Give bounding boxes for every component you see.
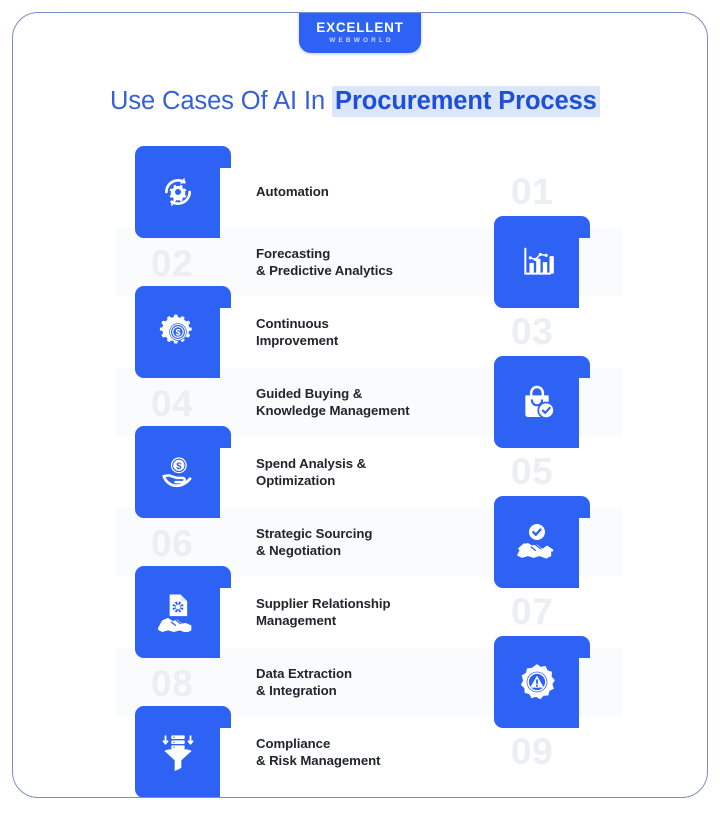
item-label: Compliance & Risk Management bbox=[256, 735, 380, 770]
document-handshake-icon bbox=[135, 566, 231, 658]
svg-text:$: $ bbox=[175, 328, 180, 338]
use-case-list: 01 Automation bbox=[116, 158, 622, 786]
page-title-wrap: Use Cases Of AI In Procurement Process bbox=[13, 87, 707, 116]
data-funnel-icon bbox=[135, 706, 231, 798]
brand-logo-secondary-text: WEBWORLD bbox=[329, 38, 394, 45]
item-label: Continuous Improvement bbox=[256, 315, 338, 350]
handshake-check-icon bbox=[494, 496, 590, 588]
shopping-bag-check-icon bbox=[494, 356, 590, 448]
brand-logo-badge[interactable]: EXCELLENT WEBWORLD bbox=[299, 12, 421, 53]
item-number: 09 bbox=[511, 733, 553, 770]
item-number: 07 bbox=[511, 593, 553, 630]
item-label: Data Extraction & Integration bbox=[256, 665, 352, 700]
brand-logo-primary-text: EXCELLENT bbox=[316, 21, 403, 35]
item-label: Strategic Sourcing & Negotiation bbox=[256, 525, 372, 560]
infographic-frame: EXCELLENT WEBWORLD Use Cases Of AI In Pr… bbox=[12, 12, 708, 798]
svg-text:$: $ bbox=[176, 461, 181, 471]
item-number: 03 bbox=[511, 313, 553, 350]
gear-alert-icon bbox=[494, 636, 590, 728]
list-item[interactable]: 09 bbox=[116, 718, 622, 786]
item-number: 08 bbox=[151, 665, 193, 702]
item-number: 05 bbox=[511, 453, 553, 490]
item-label: Guided Buying & Knowledge Management bbox=[256, 385, 410, 420]
bar-chart-trend-icon bbox=[494, 216, 590, 308]
item-number: 06 bbox=[151, 525, 193, 562]
gear-refresh-icon bbox=[135, 146, 231, 238]
item-label: Forecasting & Predictive Analytics bbox=[256, 245, 393, 280]
gear-dollar-icon: $ bbox=[135, 286, 231, 378]
item-label: Supplier Relationship Management bbox=[256, 595, 391, 630]
page-title-highlight: Procurement Process bbox=[332, 86, 600, 117]
item-number: 04 bbox=[151, 385, 193, 422]
page-title-light: Use Cases Of AI In bbox=[110, 87, 332, 115]
item-label: Automation bbox=[256, 183, 329, 201]
item-label: Spend Analysis & Optimization bbox=[256, 455, 366, 490]
hand-coin-icon: $ bbox=[135, 426, 231, 518]
item-number: 01 bbox=[511, 173, 553, 210]
item-number: 02 bbox=[151, 245, 193, 282]
page-title: Use Cases Of AI In Procurement Process bbox=[110, 87, 707, 116]
infographic-root: EXCELLENT WEBWORLD Use Cases Of AI In Pr… bbox=[0, 0, 720, 819]
